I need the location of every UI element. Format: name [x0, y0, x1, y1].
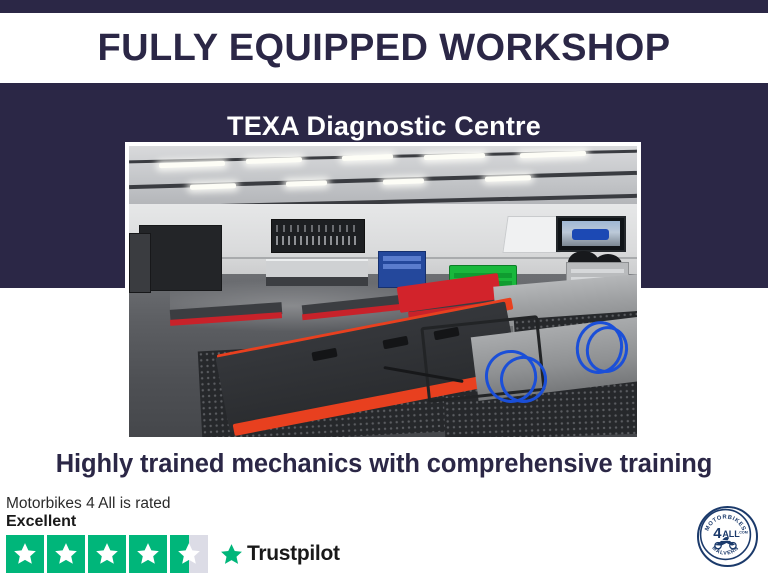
trustpilot-star-icon [219, 542, 244, 567]
trustpilot-widget[interactable]: Motorbikes 4 All is rated Excellent [6, 494, 326, 573]
ceiling-light [383, 178, 424, 184]
page-title: FULLY EQUIPPED WORKSHOP [98, 29, 671, 67]
logo-number: 4 [713, 526, 722, 542]
blue-parts-trolley [378, 251, 426, 288]
logo-badge-icon: MOTORBIKES 4 ALL .COM MALVERN [699, 508, 752, 561]
slide-root: FULLY EQUIPPED WORKSHOP TEXA Diagnostic … [0, 0, 768, 576]
trustpilot-stars-row: Trustpilot [6, 535, 326, 573]
tool-pegboard [271, 219, 364, 253]
trustpilot-rating-label: Excellent [6, 512, 326, 532]
sub-headline: Highly trained mechanics with comprehens… [0, 450, 768, 479]
tv-screen [562, 221, 620, 246]
trustpilot-brand-text: Trustpilot [247, 542, 340, 566]
workshop-photo-frame [125, 142, 641, 441]
workbench-base [266, 277, 368, 286]
trustpilot-brand[interactable]: Trustpilot [219, 542, 340, 567]
motorbikes4all-logo[interactable]: MOTORBIKES 4 ALL .COM MALVERN [697, 506, 758, 567]
logo-suffix: .COM [738, 530, 748, 534]
trustpilot-rated-line: Motorbikes 4 All is rated [6, 494, 326, 513]
workshop-photo [129, 146, 637, 437]
star-icon [47, 535, 85, 573]
top-accent-strip [0, 0, 768, 13]
subtitle: TEXA Diagnostic Centre [0, 111, 768, 142]
tv-motorcycle-image [572, 229, 609, 240]
black-tool-cabinet [139, 225, 222, 291]
half-star-icon [170, 535, 208, 573]
star-icon [88, 535, 126, 573]
star-icon [129, 535, 167, 573]
black-tool-cabinet [129, 233, 151, 293]
star-icon [6, 535, 44, 573]
headline-band: FULLY EQUIPPED WORKSHOP [0, 13, 768, 83]
star-rating [6, 535, 208, 573]
wall-mounted-tv [556, 216, 626, 252]
